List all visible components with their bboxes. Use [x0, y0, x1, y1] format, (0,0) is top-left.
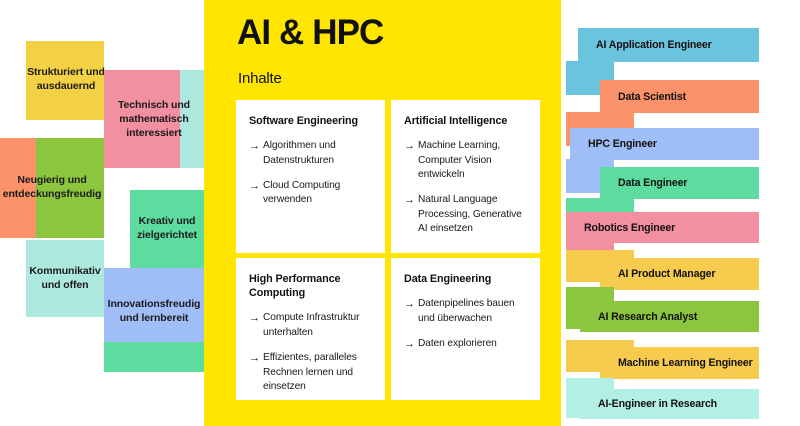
- card-list-item: → Daten explorieren: [404, 337, 527, 352]
- job-bar-ai-research-analyst[interactable]: AI Research Analyst: [580, 301, 759, 332]
- card-title: Artificial Intelligence: [404, 114, 527, 128]
- card-list-item: → Datenpipelines bauen und überwachen: [404, 297, 527, 326]
- job-bar-hpc-engineer[interactable]: HPC Engineer: [570, 128, 759, 160]
- card-list-item: → Effizientes, paralleles Rechnen lernen…: [249, 351, 372, 394]
- job-label: AI-Engineer in Research: [598, 398, 717, 410]
- card-list-item: → Algorithmen und Datenstrukturen: [249, 139, 372, 168]
- job-label: Data Engineer: [618, 177, 687, 189]
- card-item-text: Natural Language Processing, Generative …: [418, 193, 527, 236]
- arrow-right-icon: →: [404, 297, 418, 312]
- arrow-right-icon: →: [249, 139, 263, 154]
- arrow-right-icon: →: [404, 139, 418, 154]
- trait-label-technisch: Technisch und mathematisch interessiert: [104, 98, 204, 142]
- card-list-item: → Machine Learning, Computer Vision entw…: [404, 139, 527, 182]
- job-bar-ai-engineer-in-research[interactable]: AI-Engineer in Research: [580, 389, 759, 419]
- trait-label-strukturiert: Strukturiert und ausdauernd: [20, 55, 112, 105]
- card-list-item: → Natural Language Processing, Generativ…: [404, 193, 527, 236]
- card-title: High Performance Computing: [249, 272, 372, 300]
- trait-accent-green-lower: [104, 342, 204, 372]
- card-item-text: Daten explorieren: [418, 337, 527, 351]
- card-item-text: Datenpipelines bauen und überwachen: [418, 297, 527, 326]
- job-label: HPC Engineer: [588, 138, 657, 150]
- card-item-text: Machine Learning, Computer Vision entwic…: [418, 139, 527, 182]
- job-label: AI Product Manager: [618, 268, 715, 280]
- arrow-right-icon: →: [249, 351, 263, 366]
- trait-label-innovationsfreudig: Innovationsfreudig und lernbereit: [104, 290, 204, 334]
- arrow-right-icon: →: [249, 179, 263, 194]
- content-card-high-performance-computing[interactable]: High Performance Computing → Compute Inf…: [236, 258, 385, 400]
- job-bar-machine-learning-engineer[interactable]: Machine Learning Engineer: [600, 347, 759, 379]
- card-item-text: Algorithmen und Datenstrukturen: [263, 139, 372, 168]
- card-item-text: Cloud Computing verwenden: [263, 179, 372, 208]
- content-card-artificial-intelligence[interactable]: Artificial Intelligence → Machine Learni…: [391, 100, 540, 253]
- card-item-text: Effizientes, paralleles Rechnen lernen u…: [263, 351, 372, 394]
- job-bar-data-scientist[interactable]: Data Scientist: [600, 80, 759, 113]
- card-list-item: → Compute Infrastruktur unterhalten: [249, 311, 372, 340]
- job-label: Robotics Engineer: [584, 222, 675, 234]
- job-bar-robotics-engineer[interactable]: Robotics Engineer: [566, 212, 759, 243]
- arrow-right-icon: →: [404, 337, 418, 352]
- trait-label-kreativ: Kreativ und zielgerichtet: [130, 206, 204, 252]
- job-label: AI Research Analyst: [598, 311, 697, 323]
- poster-canvas: Strukturiert und ausdauernd Technisch un…: [0, 0, 800, 426]
- card-title: Software Engineering: [249, 114, 372, 128]
- job-label: Data Scientist: [618, 91, 686, 103]
- trait-label-kommunikativ: Kommunikativ und offen: [20, 256, 110, 302]
- card-list-item: → Cloud Computing verwenden: [249, 179, 372, 208]
- job-bar-data-engineer[interactable]: Data Engineer: [600, 167, 759, 199]
- card-title: Data Engineering: [404, 272, 527, 286]
- job-bar-ai-product-manager[interactable]: AI Product Manager: [600, 258, 759, 290]
- trait-label-neugierig: Neugierig und entdeckungsfreudig: [0, 166, 104, 210]
- job-label: AI Application Engineer: [596, 39, 712, 51]
- content-card-software-engineering[interactable]: Software Engineering → Algorithmen und D…: [236, 100, 385, 253]
- arrow-right-icon: →: [249, 311, 263, 326]
- job-bar-ai-application-engineer[interactable]: AI Application Engineer: [578, 28, 759, 62]
- center-panel: AI & HPC Inhalte Software Engineering → …: [204, 0, 561, 426]
- content-card-data-engineering[interactable]: Data Engineering → Datenpipelines bauen …: [391, 258, 540, 400]
- page-title: AI & HPC: [237, 15, 383, 50]
- arrow-right-icon: →: [404, 193, 418, 208]
- job-label: Machine Learning Engineer: [618, 357, 753, 369]
- panel-subtitle: Inhalte: [238, 70, 282, 87]
- card-item-text: Compute Infrastruktur unterhalten: [263, 311, 372, 340]
